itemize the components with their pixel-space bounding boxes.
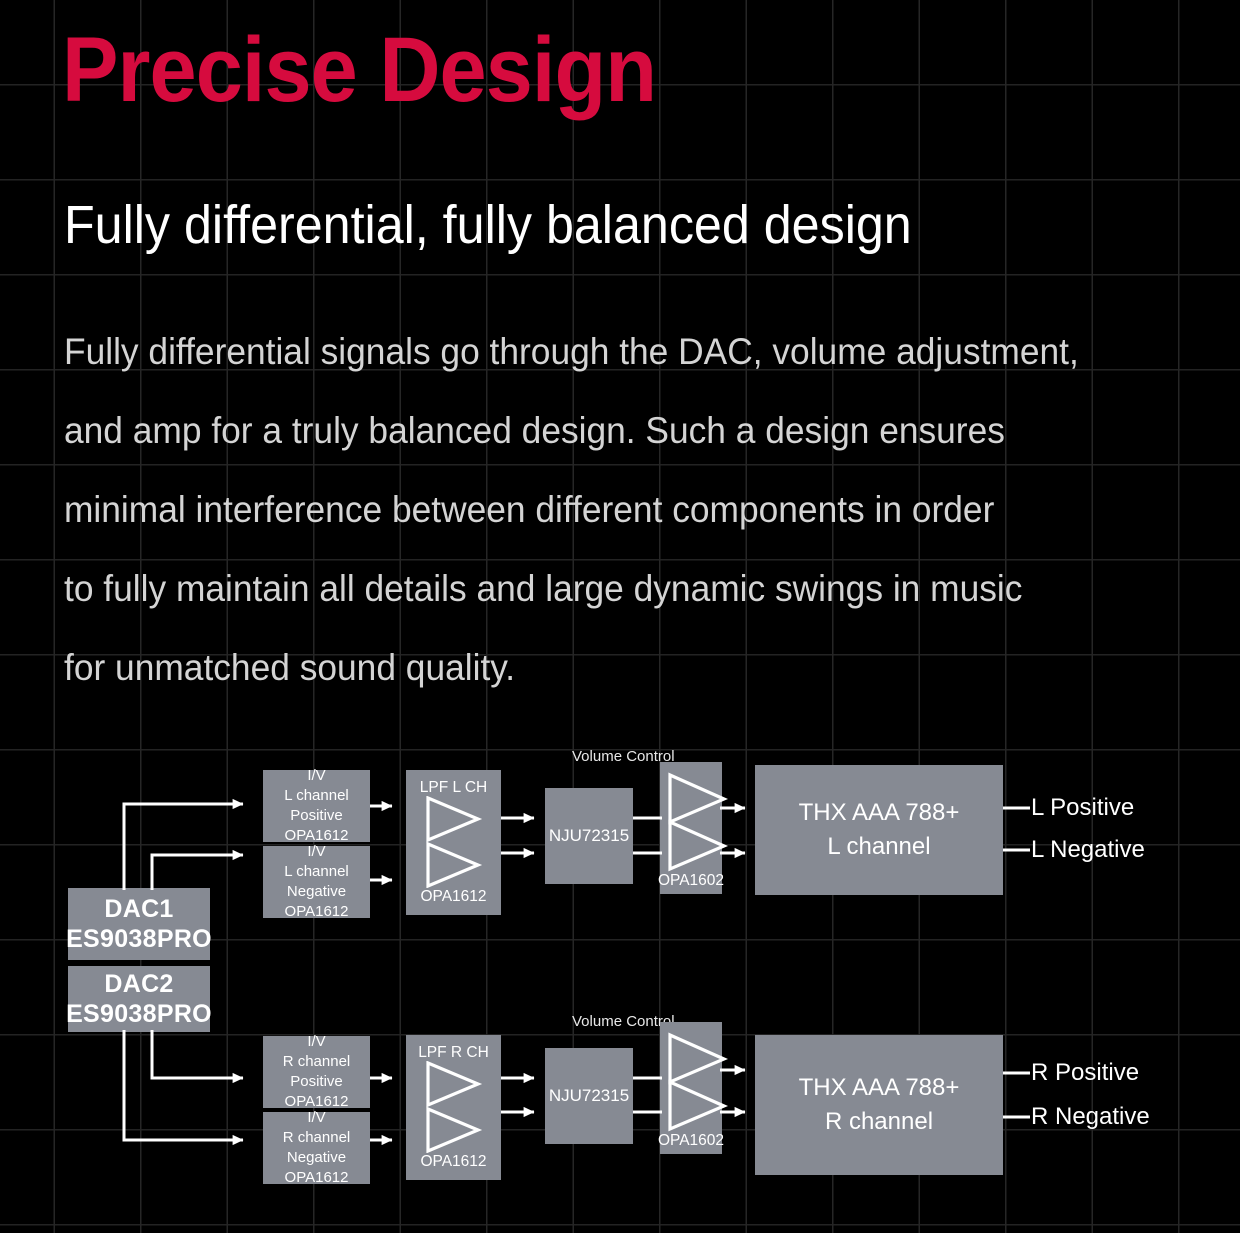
lpf-r-label: LPF R CH: [418, 1044, 489, 1062]
block-nju72315-l[interactable]: NJU72315: [545, 788, 633, 884]
lpf-r-ic: OPA1612: [420, 1153, 486, 1171]
block-dac2[interactable]: DAC2 ES9038PRO: [68, 966, 210, 1032]
iv-r-neg-line4: OPA1612: [285, 1168, 349, 1188]
output-label-l-positive: L Positive: [1031, 794, 1134, 822]
block-iv-l-positive[interactable]: I/V L channel Positive OPA1612: [263, 770, 370, 842]
body-line-5: for unmatched sound quality.: [64, 628, 1134, 707]
iv-l-neg-line3: Negative: [287, 882, 346, 902]
body-line-2: and amp for a truly balanced design. Suc…: [64, 391, 1134, 470]
iv-r-neg-line3: Negative: [287, 1148, 346, 1168]
iv-l-neg-line2: L channel: [284, 862, 349, 882]
body-paragraph: Fully differential signals go through th…: [64, 312, 1134, 707]
block-iv-r-negative[interactable]: I/V R channel Negative OPA1612: [263, 1112, 370, 1184]
output-label-r-negative: R Negative: [1031, 1103, 1150, 1131]
thx-l-line1: THX AAA 788+: [799, 796, 960, 830]
opa1602-l-label: OPA1602: [658, 872, 724, 890]
block-thx-l[interactable]: THX AAA 788+ L channel: [755, 765, 1003, 895]
opamp-triangles-lpf-l: [422, 796, 484, 888]
block-lpf-r[interactable]: LPF R CH OPA1612: [406, 1035, 501, 1180]
body-line-4: to fully maintain all details and large …: [64, 549, 1134, 628]
iv-l-pos-line1: I/V: [307, 766, 325, 786]
thx-l-line2: L channel: [827, 830, 930, 864]
block-iv-r-positive[interactable]: I/V R channel Positive OPA1612: [263, 1036, 370, 1108]
page-title: Precise Design: [62, 24, 656, 116]
block-opa1602-l[interactable]: OPA1602: [660, 762, 722, 894]
body-line-3: minimal interference between different c…: [64, 470, 1134, 549]
dac1-line1: DAC1: [104, 894, 173, 925]
opamp-triangles-lpf-r: [422, 1061, 484, 1153]
opamp-triangles-opa1602-l: [666, 772, 728, 872]
block-nju72315-r[interactable]: NJU72315: [545, 1048, 633, 1144]
block-opa1602-r[interactable]: OPA1602: [660, 1022, 722, 1154]
output-label-l-negative: L Negative: [1031, 836, 1145, 864]
thx-r-line1: THX AAA 788+: [799, 1071, 960, 1105]
dac2-line1: DAC2: [104, 969, 173, 1000]
iv-l-neg-line4: OPA1612: [285, 902, 349, 922]
block-thx-r[interactable]: THX AAA 788+ R channel: [755, 1035, 1003, 1175]
body-line-1: Fully differential signals go through th…: [64, 312, 1134, 391]
opa1602-r-label: OPA1602: [658, 1132, 724, 1150]
block-iv-l-negative[interactable]: I/V L channel Negative OPA1612: [263, 846, 370, 918]
block-dac1[interactable]: DAC1 ES9038PRO: [68, 888, 210, 960]
iv-r-neg-line2: R channel: [283, 1128, 351, 1148]
lpf-l-ic: OPA1612: [420, 888, 486, 906]
iv-l-neg-line1: I/V: [307, 842, 325, 862]
iv-l-pos-line2: L channel: [284, 786, 349, 806]
iv-r-pos-line2: R channel: [283, 1052, 351, 1072]
iv-r-neg-line1: I/V: [307, 1108, 325, 1128]
thx-r-line2: R channel: [825, 1105, 933, 1139]
output-label-r-positive: R Positive: [1031, 1059, 1139, 1087]
nju-r-label: NJU72315: [549, 1086, 629, 1106]
iv-r-pos-line1: I/V: [307, 1032, 325, 1052]
signal-path-block-diagram: DAC1 ES9038PRO DAC2 ES9038PRO I/V L chan…: [0, 700, 1240, 1220]
dac2-line2: ES9038PRO: [66, 999, 212, 1030]
block-lpf-l[interactable]: LPF L CH OPA1612: [406, 770, 501, 915]
lpf-l-label: LPF L CH: [420, 779, 487, 797]
opamp-triangles-opa1602-r: [666, 1032, 728, 1132]
iv-l-pos-line3: Positive: [290, 806, 343, 826]
page-subtitle: Fully differential, fully balanced desig…: [64, 197, 912, 254]
dac1-line2: ES9038PRO: [66, 924, 212, 955]
iv-r-pos-line3: Positive: [290, 1072, 343, 1092]
nju-l-label: NJU72315: [549, 826, 629, 846]
